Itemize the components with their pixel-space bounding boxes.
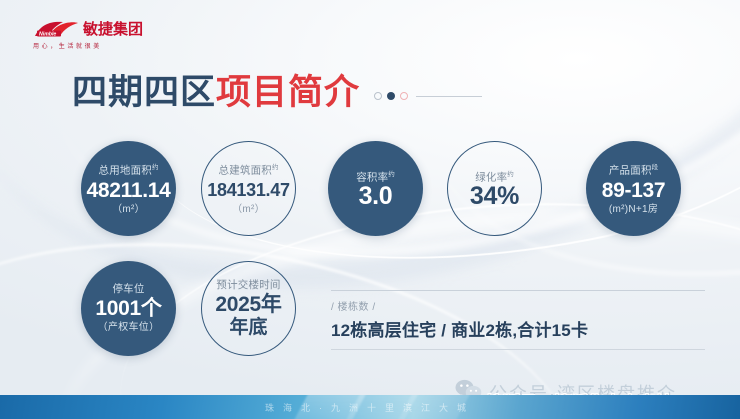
stat-label: 预计交楼时间 <box>216 279 280 292</box>
stat-value: 89-137 <box>602 178 666 203</box>
stat-value: 34% <box>470 184 519 209</box>
stat-circle-delivery-date: 预计交楼时间 2025年 年底 <box>201 261 296 356</box>
brand-logo-row: Nimble 敏捷集团 <box>33 19 183 40</box>
stat-label: 停车位 <box>112 283 144 296</box>
stat-value: 3.0 <box>359 184 393 209</box>
stat-unit: (m²)N+1房 <box>609 203 658 216</box>
stat-unit: （产权车位） <box>98 321 160 334</box>
stat-label-text: 预计交楼时间 <box>216 279 280 291</box>
stat-circle-total-floor-area: 总建筑面积约 184131.47 （m²） <box>201 141 296 236</box>
stat-label: 总建筑面积约 <box>219 161 279 178</box>
buildings-divider-top <box>331 290 705 291</box>
buildings-divider-bottom <box>331 349 705 350</box>
stat-label: 总用地面积约 <box>99 161 159 178</box>
dot-outline-gray-icon <box>374 92 382 100</box>
bottom-photo-band: 珠海北·九洲十里滨江大城 <box>0 395 740 419</box>
svg-text:Nimble: Nimble <box>39 31 56 37</box>
stat-value: 48211.14 <box>86 178 170 203</box>
brand-name: 敏捷集团 <box>83 20 143 39</box>
stat-value: 184131.47 <box>207 178 289 203</box>
slide-root: Nimble 敏捷集团 用心，生活就很美 四期四区 项目简介 总用地面积约 48… <box>0 0 740 419</box>
title-dots <box>374 92 408 100</box>
brand-logo: Nimble 敏捷集团 用心，生活就很美 <box>33 19 183 55</box>
stat-value: 1001个 <box>95 296 161 321</box>
stat-label-sup: 段 <box>652 164 659 171</box>
page-title: 四期四区 项目简介 <box>72 71 482 115</box>
page-title-highlight: 项目简介 <box>216 71 360 115</box>
stat-label-text: 总用地面积 <box>99 165 153 177</box>
title-rule <box>416 96 482 97</box>
stat-circle-green-ratio: 绿化率约 34% <box>447 141 542 236</box>
dot-filled-navy-icon <box>387 92 395 100</box>
brand-tagline: 用心，生活就很美 <box>33 43 183 52</box>
stat-label-sup: 约 <box>272 164 279 171</box>
footer-caption: 珠海北·九洲十里滨江大城 <box>0 395 740 419</box>
stat-value: 2025年 <box>215 292 281 317</box>
stat-label: 产品面积段 <box>609 161 658 178</box>
stat-label-sup: 约 <box>388 171 395 178</box>
stat-circle-plot-ratio: 容积率约 3.0 <box>328 141 423 236</box>
nimble-wave-logo-icon: Nimble <box>33 20 79 39</box>
page-title-prefix: 四期四区 <box>72 71 216 115</box>
stat-label-sup: 约 <box>507 171 514 178</box>
buildings-block: / 楼栋数 / 12栋高层住宅 / 商业2栋,合计15卡 <box>331 290 705 350</box>
stat-circle-unit-area: 产品面积段 89-137 (m²)N+1房 <box>586 141 681 236</box>
stat-label-text: 总建筑面积 <box>219 165 273 177</box>
buildings-value: 12栋高层住宅 / 商业2栋,合计15卡 <box>331 316 705 341</box>
stat-label-text: 停车位 <box>112 283 144 295</box>
stat-label-sup: 约 <box>152 164 159 171</box>
stat-unit: （m²） <box>112 203 145 216</box>
stat-circle-site-area: 总用地面积约 48211.14 （m²） <box>81 141 176 236</box>
stat-unit: （m²） <box>232 203 265 216</box>
buildings-label: / 楼栋数 / <box>331 298 705 313</box>
dot-outline-red-icon <box>400 92 408 100</box>
stat-circle-parking: 停车位 1001个 （产权车位） <box>81 261 176 356</box>
stat-value-second-line: 年底 <box>229 317 267 339</box>
stat-label-text: 产品面积 <box>609 165 652 177</box>
